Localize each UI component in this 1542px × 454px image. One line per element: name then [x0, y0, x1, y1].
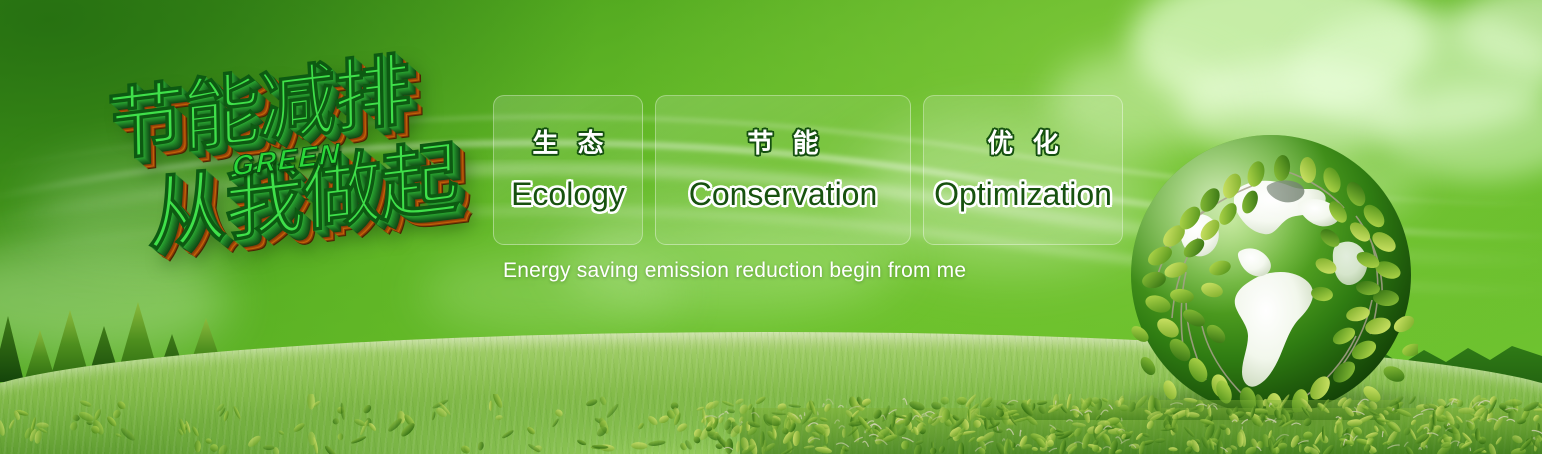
- card-title-cn: 优 化: [981, 130, 1064, 156]
- card-title-en: Optimization: [934, 178, 1112, 210]
- card-title-en: Ecology: [511, 178, 625, 210]
- feature-card-ecology[interactable]: 生 态 Ecology: [493, 95, 643, 245]
- card-title-cn: 生 态: [526, 130, 609, 156]
- scattered-leaf-litter: [0, 394, 1542, 454]
- tagline: Energy saving emission reduction begin f…: [503, 259, 966, 283]
- feature-card-optimization[interactable]: 优 化 Optimization: [923, 95, 1123, 245]
- card-title-cn: 节 能: [741, 130, 824, 156]
- feature-card-conservation[interactable]: 节 能 Conservation: [655, 95, 911, 245]
- feature-card-group: 生 态 Ecology 节 能 Conservation 优 化 Optimiz…: [493, 95, 1123, 245]
- eco-banner: 节能减排 从我做起 GREEN 生 态 Ecology 节 能 Conserva…: [0, 0, 1542, 454]
- card-title-en: Conservation: [689, 178, 878, 210]
